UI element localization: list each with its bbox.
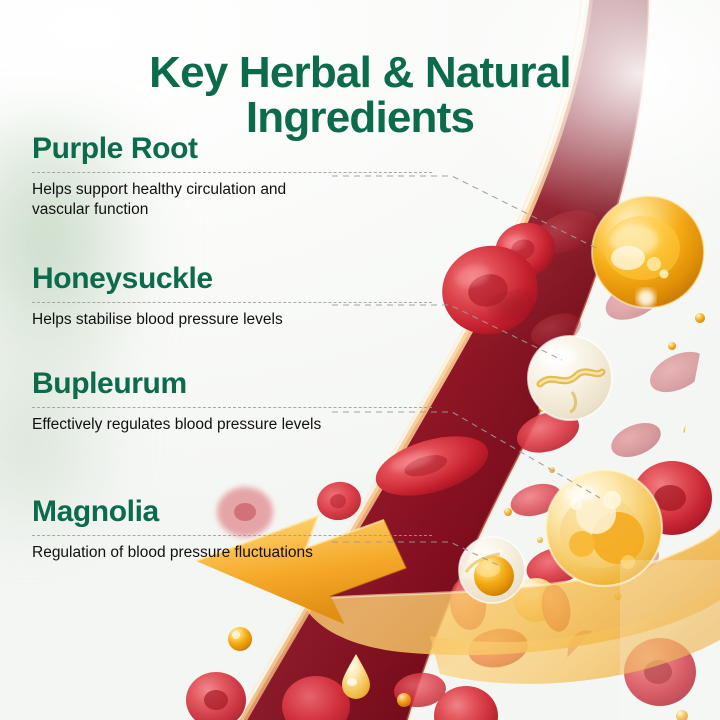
red-blood-cell-tilted [538, 582, 574, 634]
ingredient-divider [32, 302, 432, 303]
infographic-canvas: Key Herbal & Natural Ingredients Purple … [0, 0, 720, 720]
gold-oil-capsule-large [592, 196, 704, 308]
cream-oil-capsule [528, 336, 612, 420]
ingredient-name: Magnolia [32, 496, 432, 528]
ingredient-block-purple-root: Purple Root Helps support healthy circul… [32, 133, 432, 220]
ingredient-description: Helps support healthy circulation and va… [32, 180, 337, 221]
red-blood-cell-cluster-upper [433, 215, 562, 344]
page-title-line-1: Key Herbal & Natural [149, 48, 571, 97]
ingredient-divider [32, 172, 432, 173]
ingredient-name: Honeysuckle [32, 263, 432, 295]
vessel-interior-cells [392, 202, 712, 718]
ingredient-block-honeysuckle: Honeysuckle Helps stabilise blood pressu… [32, 263, 432, 330]
ingredient-description: Helps stabilise blood pressure levels [32, 310, 337, 330]
gold-oil-capsule-bubbles [546, 470, 662, 586]
page-title: Key Herbal & Natural Ingredients [0, 51, 720, 141]
gold-oil-capsule-small [459, 537, 525, 603]
ingredient-description: Effectively regulates blood pressure lev… [32, 415, 337, 435]
ingredient-block-bupleurum: Bupleurum Effectively regulates blood pr… [32, 368, 432, 435]
ingredient-name: Bupleurum [32, 368, 432, 400]
gold-droplet-group [228, 627, 688, 720]
red-blood-cell-mid [369, 425, 495, 507]
ingredient-description: Regulation of blood pressure fluctuation… [32, 543, 337, 563]
ingredient-divider [32, 535, 432, 536]
ingredient-divider [32, 407, 432, 408]
ingredient-name: Purple Root [32, 133, 432, 165]
ingredient-block-magnolia: Magnolia Regulation of blood pressure fl… [32, 496, 432, 563]
